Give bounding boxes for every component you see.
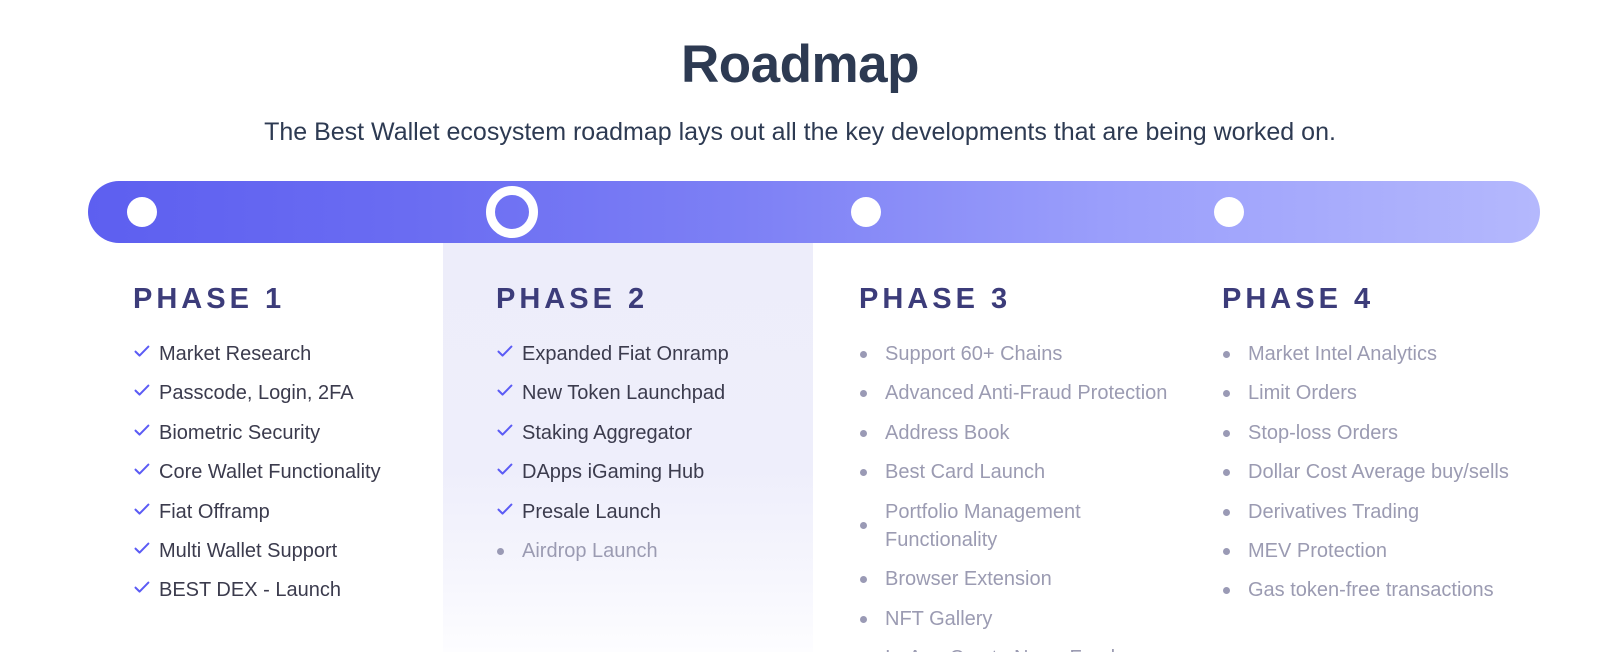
list-item-label: Biometric Security [159, 419, 320, 447]
list-item: Stop-loss Orders [1222, 419, 1540, 447]
list-item-label: Fiat Offramp [159, 498, 270, 526]
list-item-label: MEV Protection [1248, 537, 1387, 565]
bullet-dot [860, 469, 867, 476]
list-item-label: Multi Wallet Support [159, 537, 337, 565]
list-item-label: Market Research [159, 340, 311, 368]
bullet-dot [1223, 509, 1230, 516]
bullet-dot [860, 390, 867, 397]
list-item-label: Derivatives Trading [1248, 498, 1419, 526]
list-item: BEST DEX - Launch [133, 576, 451, 604]
list-item: Limit Orders [1222, 379, 1540, 407]
bullet-dot [497, 548, 504, 555]
bullet-icon [1222, 537, 1248, 555]
list-item-label: Dollar Cost Average buy/sells [1248, 458, 1509, 486]
list-item: Multi Wallet Support [133, 537, 451, 565]
list-item: Market Intel Analytics [1222, 340, 1540, 368]
bullet-dot [1223, 587, 1230, 594]
bullet-icon [1222, 576, 1248, 594]
list-item: Market Research [133, 340, 451, 368]
roadmap-progress-bar [88, 181, 1540, 243]
progress-bar-track [88, 181, 1540, 243]
bullet-icon [859, 565, 885, 583]
roadmap-page: Roadmap The Best Wallet ecosystem roadma… [0, 0, 1600, 652]
list-item: Expanded Fiat Onramp [496, 340, 814, 368]
list-item-label: Best Card Launch [885, 458, 1045, 486]
phase-columns: PHASE 1Market ResearchPasscode, Login, 2… [88, 243, 1540, 652]
list-item: Advanced Anti-Fraud Protection [859, 379, 1177, 407]
list-item-label: Presale Launch [522, 498, 661, 526]
list-item-label: Expanded Fiat Onramp [522, 340, 729, 368]
check-icon [133, 576, 159, 596]
bullet-icon [859, 340, 885, 358]
phase-4-marker[interactable] [1214, 197, 1244, 227]
list-item: Passcode, Login, 2FA [133, 379, 451, 407]
check-icon [133, 419, 159, 439]
bullet-dot [1223, 430, 1230, 437]
phase-heading-4: PHASE 4 [1222, 285, 1540, 314]
phase-column-4: PHASE 4Market Intel AnalyticsLimit Order… [1177, 243, 1540, 652]
phase-column-2: PHASE 2Expanded Fiat OnrampNew Token Lau… [451, 243, 814, 652]
bullet-icon [859, 379, 885, 397]
bullet-dot [860, 522, 867, 529]
list-item: Airdrop Launch [496, 537, 814, 565]
list-item-label: Limit Orders [1248, 379, 1357, 407]
bullet-dot [860, 616, 867, 623]
bullet-icon [1222, 340, 1248, 358]
list-item: NFT Gallery [859, 605, 1177, 633]
phase-heading-1: PHASE 1 [133, 285, 451, 314]
check-icon [133, 537, 159, 557]
phase-item-list: Expanded Fiat OnrampNew Token LaunchpadS… [496, 340, 814, 565]
bullet-dot [860, 430, 867, 437]
page-subtitle: The Best Wallet ecosystem roadmap lays o… [0, 117, 1600, 147]
bullet-dot [860, 351, 867, 358]
list-item-label: DApps iGaming Hub [522, 458, 704, 486]
list-item-label: Stop-loss Orders [1248, 419, 1398, 447]
phase-item-list: Market ResearchPasscode, Login, 2FABiome… [133, 340, 451, 605]
list-item-label: Portfolio Management Functionality [885, 498, 1100, 555]
check-icon [133, 498, 159, 518]
list-item: In-App Crypto News Feed [859, 644, 1177, 652]
list-item-label: Passcode, Login, 2FA [159, 379, 354, 407]
roadmap-header: Roadmap The Best Wallet ecosystem roadma… [0, 0, 1600, 147]
phase-2-marker[interactable] [486, 186, 538, 238]
list-item-label: Core Wallet Functionality [159, 458, 381, 486]
list-item-label: NFT Gallery [885, 605, 992, 633]
check-icon [133, 379, 159, 399]
list-item: Derivatives Trading [1222, 498, 1540, 526]
bullet-dot [1223, 390, 1230, 397]
bullet-icon [859, 644, 885, 652]
phase-column-1: PHASE 1Market ResearchPasscode, Login, 2… [88, 243, 451, 652]
phase-3-marker[interactable] [851, 197, 881, 227]
list-item-label: BEST DEX - Launch [159, 576, 341, 604]
list-item-label: Support 60+ Chains [885, 340, 1062, 368]
list-item-label: Browser Extension [885, 565, 1052, 593]
bullet-icon [1222, 498, 1248, 516]
bullet-icon [1222, 379, 1248, 397]
bullet-icon [859, 522, 885, 529]
list-item-label: Airdrop Launch [522, 537, 658, 565]
list-item-label: Market Intel Analytics [1248, 340, 1437, 368]
list-item: Core Wallet Functionality [133, 458, 451, 486]
list-item: Address Book [859, 419, 1177, 447]
list-item: MEV Protection [1222, 537, 1540, 565]
bullet-icon [859, 605, 885, 623]
bullet-icon [496, 537, 522, 555]
bullet-icon [859, 458, 885, 476]
bullet-dot [860, 576, 867, 583]
list-item-label: New Token Launchpad [522, 379, 725, 407]
check-icon [133, 458, 159, 478]
list-item-label: In-App Crypto News Feed [885, 644, 1115, 652]
check-icon [496, 498, 522, 518]
list-item-label: Address Book [885, 419, 1010, 447]
page-title: Roadmap [0, 38, 1600, 91]
list-item: Portfolio Management Functionality [859, 498, 1177, 555]
list-item: Staking Aggregator [496, 419, 814, 447]
phase-heading-2: PHASE 2 [496, 285, 814, 314]
list-item: Presale Launch [496, 498, 814, 526]
phase-item-list: Support 60+ ChainsAdvanced Anti-Fraud Pr… [859, 340, 1177, 652]
list-item: Best Card Launch [859, 458, 1177, 486]
list-item: DApps iGaming Hub [496, 458, 814, 486]
phase-column-3: PHASE 3Support 60+ ChainsAdvanced Anti-F… [814, 243, 1177, 652]
check-icon [496, 458, 522, 478]
bullet-icon [859, 419, 885, 437]
bullet-dot [1223, 548, 1230, 555]
list-item: Dollar Cost Average buy/sells [1222, 458, 1540, 486]
bullet-dot [1223, 351, 1230, 358]
phase-1-marker[interactable] [127, 197, 157, 227]
list-item: Biometric Security [133, 419, 451, 447]
check-icon [133, 340, 159, 360]
list-item: Browser Extension [859, 565, 1177, 593]
check-icon [496, 379, 522, 399]
bullet-dot [1223, 469, 1230, 476]
list-item-label: Gas token-free transactions [1248, 576, 1494, 604]
list-item-label: Staking Aggregator [522, 419, 692, 447]
list-item-label: Advanced Anti-Fraud Protection [885, 379, 1167, 407]
bullet-icon [1222, 419, 1248, 437]
check-icon [496, 340, 522, 360]
check-icon [496, 419, 522, 439]
list-item: Gas token-free transactions [1222, 576, 1540, 604]
list-item: Support 60+ Chains [859, 340, 1177, 368]
list-item: New Token Launchpad [496, 379, 814, 407]
list-item: Fiat Offramp [133, 498, 451, 526]
phase-item-list: Market Intel AnalyticsLimit OrdersStop-l… [1222, 340, 1540, 605]
bullet-icon [1222, 458, 1248, 476]
phase-heading-3: PHASE 3 [859, 285, 1177, 314]
